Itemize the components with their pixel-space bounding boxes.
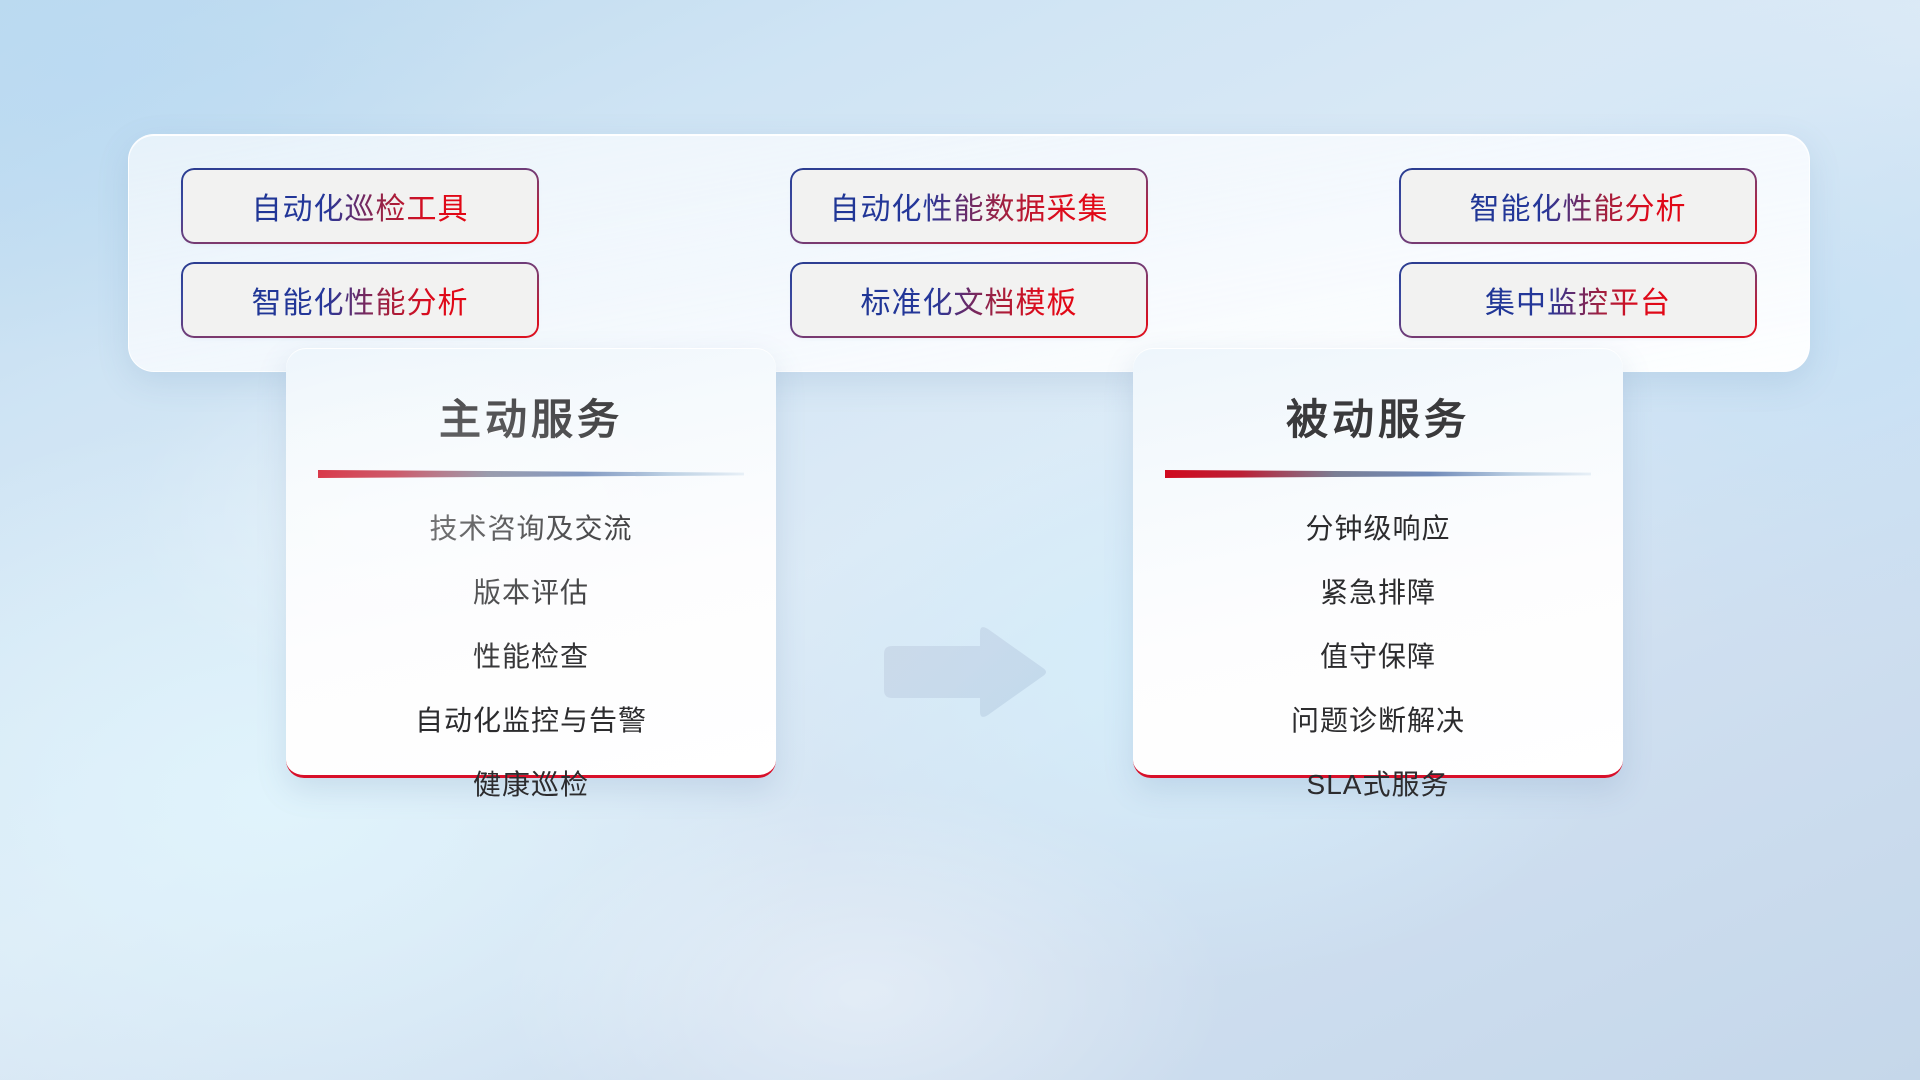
- card-item: 分钟级响应: [1305, 507, 1450, 547]
- slide-canvas: 自动化巡检工具 自动化性能数据采集 智能化性能分析 智能化性能分析 标准化文档模…: [0, 0, 1920, 1080]
- gradient-divider: [318, 469, 744, 479]
- service-card-reactive: 被动服务 分钟级响应 紧急排障 值守保障: [1133, 348, 1623, 778]
- card-item-list: 分钟级响应 紧急排障 值守保障 问题诊断解决 SLA式服务: [1163, 507, 1593, 803]
- card-title: 主动服务: [439, 386, 623, 447]
- card-item: 紧急排障: [1320, 571, 1436, 611]
- capability-pill-label: 自动化性能数据采集: [830, 184, 1109, 228]
- capability-row-2: 智能化性能分析 标准化文档模板 集中监控平台: [183, 264, 1755, 336]
- capability-row-1: 自动化巡检工具 自动化性能数据采集 智能化性能分析: [183, 170, 1755, 242]
- capability-pill-label: 智能化性能分析: [252, 278, 469, 322]
- capability-panel: 自动化巡检工具 自动化性能数据采集 智能化性能分析 智能化性能分析 标准化文档模…: [128, 134, 1810, 372]
- capability-pill-intelligent-performance-analysis[interactable]: 智能化性能分析: [1401, 170, 1755, 242]
- right-arrow-icon: [876, 624, 1048, 720]
- card-item: 健康巡检: [473, 763, 589, 803]
- gradient-divider: [1165, 469, 1591, 479]
- card-item: 技术咨询及交流: [429, 507, 632, 547]
- card-item: 版本评估: [473, 571, 589, 611]
- card-item: 值守保障: [1320, 635, 1436, 675]
- card-item: 自动化监控与告警: [415, 699, 647, 739]
- capability-pill-automated-inspection-tool[interactable]: 自动化巡检工具: [183, 170, 537, 242]
- capability-pill-standardized-document-template[interactable]: 标准化文档模板: [792, 264, 1146, 336]
- card-item-list: 技术咨询及交流 版本评估 性能检查 自动化监控与告警 健康巡检: [316, 507, 746, 803]
- capability-pill-label: 自动化巡检工具: [252, 184, 469, 228]
- card-item: 性能检查: [473, 635, 589, 675]
- capability-pill-intelligent-performance-analysis-2[interactable]: 智能化性能分析: [183, 264, 537, 336]
- card-item: SLA式服务: [1307, 763, 1450, 803]
- capability-pill-centralized-monitoring-platform[interactable]: 集中监控平台: [1401, 264, 1755, 336]
- capability-pill-label: 智能化性能分析: [1470, 184, 1687, 228]
- capability-pill-automated-performance-data-collection[interactable]: 自动化性能数据采集: [792, 170, 1146, 242]
- capability-pill-label: 标准化文档模板: [861, 278, 1078, 322]
- service-card-proactive: 主动服务 技术咨询及交流 版本评估 性能检查: [286, 348, 776, 778]
- capability-pill-label: 集中监控平台: [1485, 278, 1671, 322]
- card-item: 问题诊断解决: [1291, 699, 1465, 739]
- card-title: 被动服务: [1286, 386, 1470, 447]
